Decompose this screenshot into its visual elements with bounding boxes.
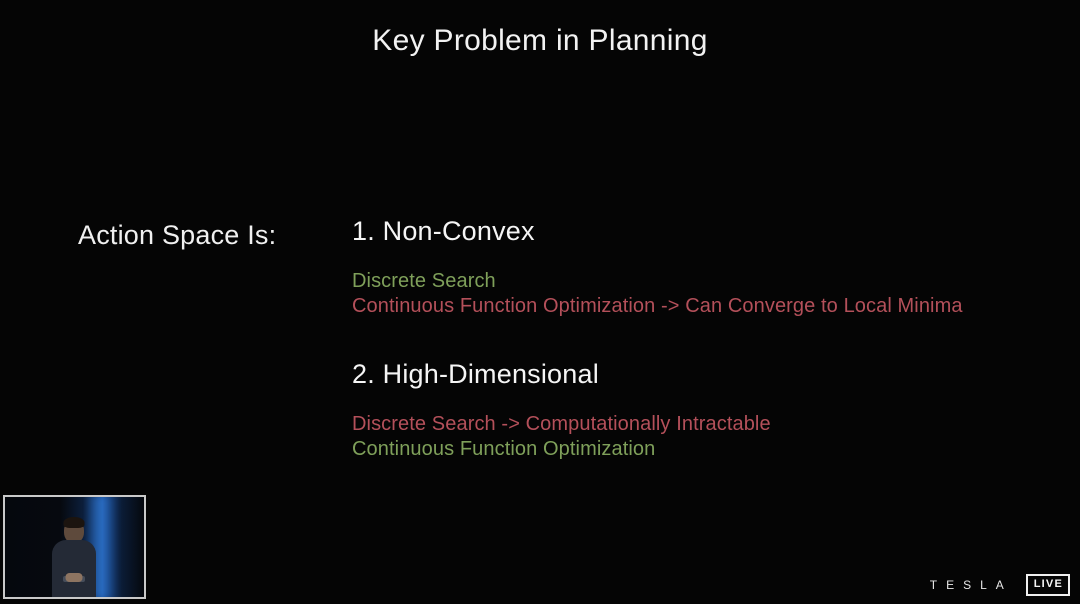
point-1-line-continuous-optimization: Continuous Function Optimization -> Can … [352, 294, 1080, 319]
presenter-video-thumbnail[interactable] [3, 495, 146, 599]
presenter-figure [47, 519, 103, 597]
action-space-label: Action Space Is: [78, 220, 276, 251]
presenter-hands [66, 573, 83, 582]
point-block-non-convex: 1. Non-Convex Discrete Search Continuous… [352, 218, 1080, 319]
point-2-line-discrete-search: Discrete Search -> Computationally Intra… [352, 412, 1080, 437]
points-column: 1. Non-Convex Discrete Search Continuous… [352, 218, 1080, 462]
point-heading-1: 1. Non-Convex [352, 218, 1080, 245]
presenter-torso [52, 540, 96, 599]
live-badge: LIVE [1026, 574, 1070, 596]
point-1-line-discrete-search: Discrete Search [352, 269, 1080, 294]
point-2-line-continuous-optimization: Continuous Function Optimization [352, 437, 1080, 462]
presenter-hair [64, 517, 85, 528]
broadcast-branding: TESLA LIVE [921, 574, 1070, 596]
slide-title: Key Problem in Planning [0, 24, 1080, 58]
tesla-wordmark: TESLA [921, 579, 1013, 591]
presentation-slide: Key Problem in Planning Action Space Is:… [0, 0, 1080, 604]
point-block-high-dimensional: 2. High-Dimensional Discrete Search -> C… [352, 361, 1080, 462]
point-heading-2: 2. High-Dimensional [352, 361, 1080, 388]
stage-background [5, 497, 144, 597]
